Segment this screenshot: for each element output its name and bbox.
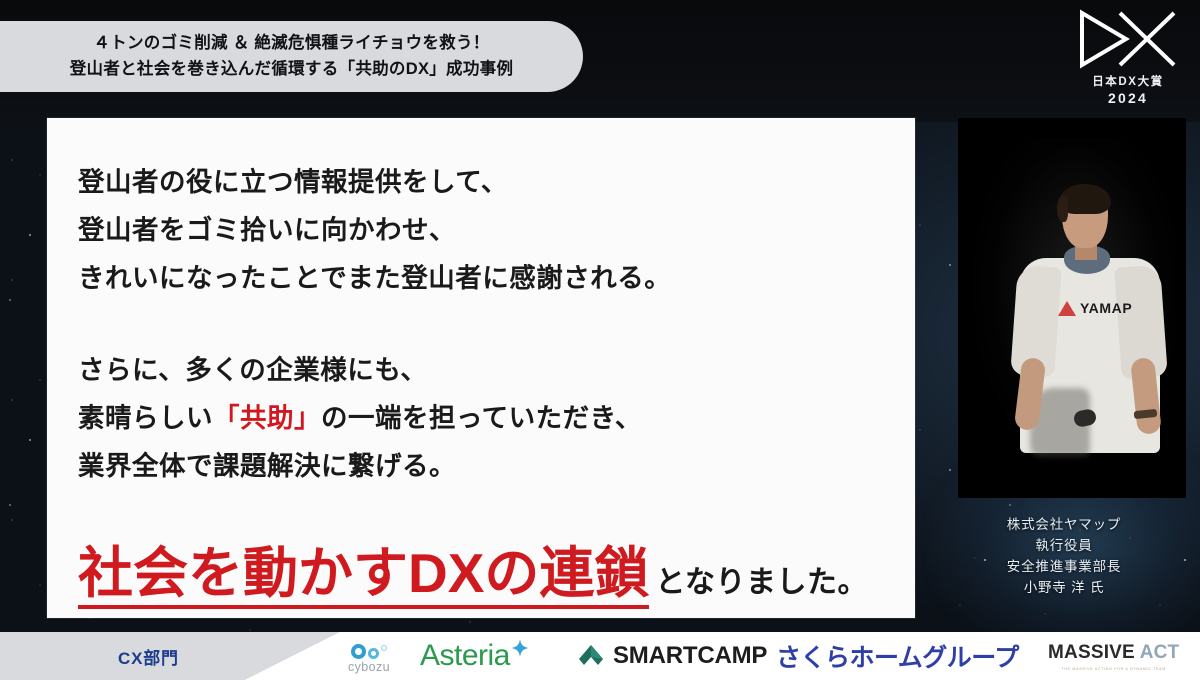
massive-word: MASSIVE — [1048, 642, 1140, 663]
sakura-wordmark: さくらホームグループ — [776, 638, 1019, 674]
speaker-caption: 株式会社ヤマップ 執行役員 安全推進事業部長 小野寺 洋 氏 — [930, 514, 1198, 598]
slide-p2-line-1: さらに、多くの企業様にも、 — [78, 346, 915, 394]
sponsor-logo-smartcamp: SMARTCAMP — [578, 632, 767, 680]
smartcamp-wordmark: SMARTCAMP — [613, 642, 767, 670]
smartcamp-mountain-icon — [578, 644, 604, 668]
slide-paragraph-2: さらに、多くの企業様にも、 素晴らしい「共助」の一端を担っていただき、 業界全体… — [78, 346, 915, 490]
sponsor-logo-massive-act: MASSIVE ACT THE MASSIVE ACTING FOR A DYN… — [1048, 632, 1179, 680]
award-logo: 日本DX大賞 2024 — [1068, 8, 1188, 118]
session-title-line-2: 登山者と社会を巻き込んだ循環する「共助のDX」成功事例 — [70, 57, 514, 83]
act-word: ACT — [1140, 642, 1180, 663]
department-label: CX部門 — [118, 632, 179, 680]
yamap-shirt-logo: YAMAP — [1058, 300, 1132, 316]
cybozu-circle-large — [351, 644, 366, 659]
cybozu-circle-small — [381, 645, 387, 651]
slide-p1-line-1: 登山者の役に立つ情報提供をして、 — [78, 158, 915, 206]
slide-p2-line-3: 業界全体で課題解決に繋げる。 — [78, 442, 915, 490]
slide-headline-emphasis: 社会を動かすDXの連鎖 — [78, 546, 649, 609]
broadcast-stage: ４トンのゴミ削減 ＆ 絶滅危惧種ライチョウを救う！ 登山者と社会を巻き込んだ循環… — [0, 0, 1200, 680]
slide-paragraph-1: 登山者の役に立つ情報提供をして、 登山者をゴミ拾いに向かわせ、 きれいになったこ… — [78, 158, 915, 302]
yamap-triangle-icon — [1058, 301, 1076, 316]
cybozu-circles-icon — [351, 639, 387, 659]
speaker-video-feed: YAMAP — [958, 118, 1186, 498]
asteria-sparkle-icon — [511, 639, 529, 657]
sponsor-logo-cybozu: cybozu — [348, 632, 390, 680]
award-name-label: 日本DX大賞 — [1092, 73, 1164, 89]
speaker-hair-side — [1057, 196, 1068, 222]
speaker-company: 株式会社ヤマップ — [930, 514, 1198, 535]
cybozu-circle-medium — [368, 648, 379, 659]
slide-body: 登山者の役に立つ情報提供をして、 登山者をゴミ拾いに向かわせ、 きれいになったこ… — [47, 118, 915, 609]
massive-act-wordmark: MASSIVE ACT — [1048, 642, 1179, 664]
sponsor-logo-sakura-home-group: さくらホームグループ — [776, 632, 1019, 680]
slide-p2-line-2: 素晴らしい「共助」の一端を担っていただき、 — [78, 394, 915, 442]
slide-paragraph-spacer — [78, 302, 915, 346]
award-year-label: 2024 — [1108, 90, 1148, 106]
slide-headline-tail: となりました。 — [655, 557, 868, 601]
session-title-line-1: ４トンのゴミ削減 ＆ 絶滅危惧種ライチョウを救う！ — [93, 31, 489, 57]
sponsor-logo-asteria: Asteria — [420, 632, 529, 680]
slide-headline: 社会を動かすDXの連鎖 となりました。 — [78, 546, 915, 609]
slide-p2-line2-pre: 素晴らしい — [78, 403, 213, 433]
cybozu-wordmark: cybozu — [348, 660, 390, 674]
yamap-wordmark: YAMAP — [1080, 300, 1132, 316]
slide-p1-line-3: きれいになったことでまた登山者に感謝される。 — [78, 254, 915, 302]
slide-p2-line2-post: の一端を担っていただき、 — [321, 403, 642, 433]
presentation-slide: 登山者の役に立つ情報提供をして、 登山者をゴミ拾いに向かわせ、 きれいになったこ… — [47, 118, 915, 618]
dx-award-mark-icon — [1074, 8, 1182, 70]
massive-act-tagline: THE MASSIVE ACTING FOR A DYNAMIC TEAM — [1061, 667, 1166, 671]
sponsor-bar: CX部門 cybozu Asteria SMARTCAMP さくらホームグループ — [0, 632, 1200, 680]
session-title-banner: ４トンのゴミ削減 ＆ 絶滅危惧種ライチョウを救う！ 登山者と社会を巻き込んだ循環… — [0, 21, 583, 92]
slide-p1-line-2: 登山者をゴミ拾いに向かわせ、 — [78, 206, 915, 254]
speaker-name: 小野寺 洋 氏 — [930, 577, 1198, 598]
slide-p2-highlight-kyojo: 「共助」 — [213, 403, 321, 433]
speaker-division: 安全推進事業部長 — [930, 556, 1198, 577]
asteria-wordmark: Asteria — [420, 639, 510, 673]
speaker-role: 執行役員 — [930, 535, 1198, 556]
